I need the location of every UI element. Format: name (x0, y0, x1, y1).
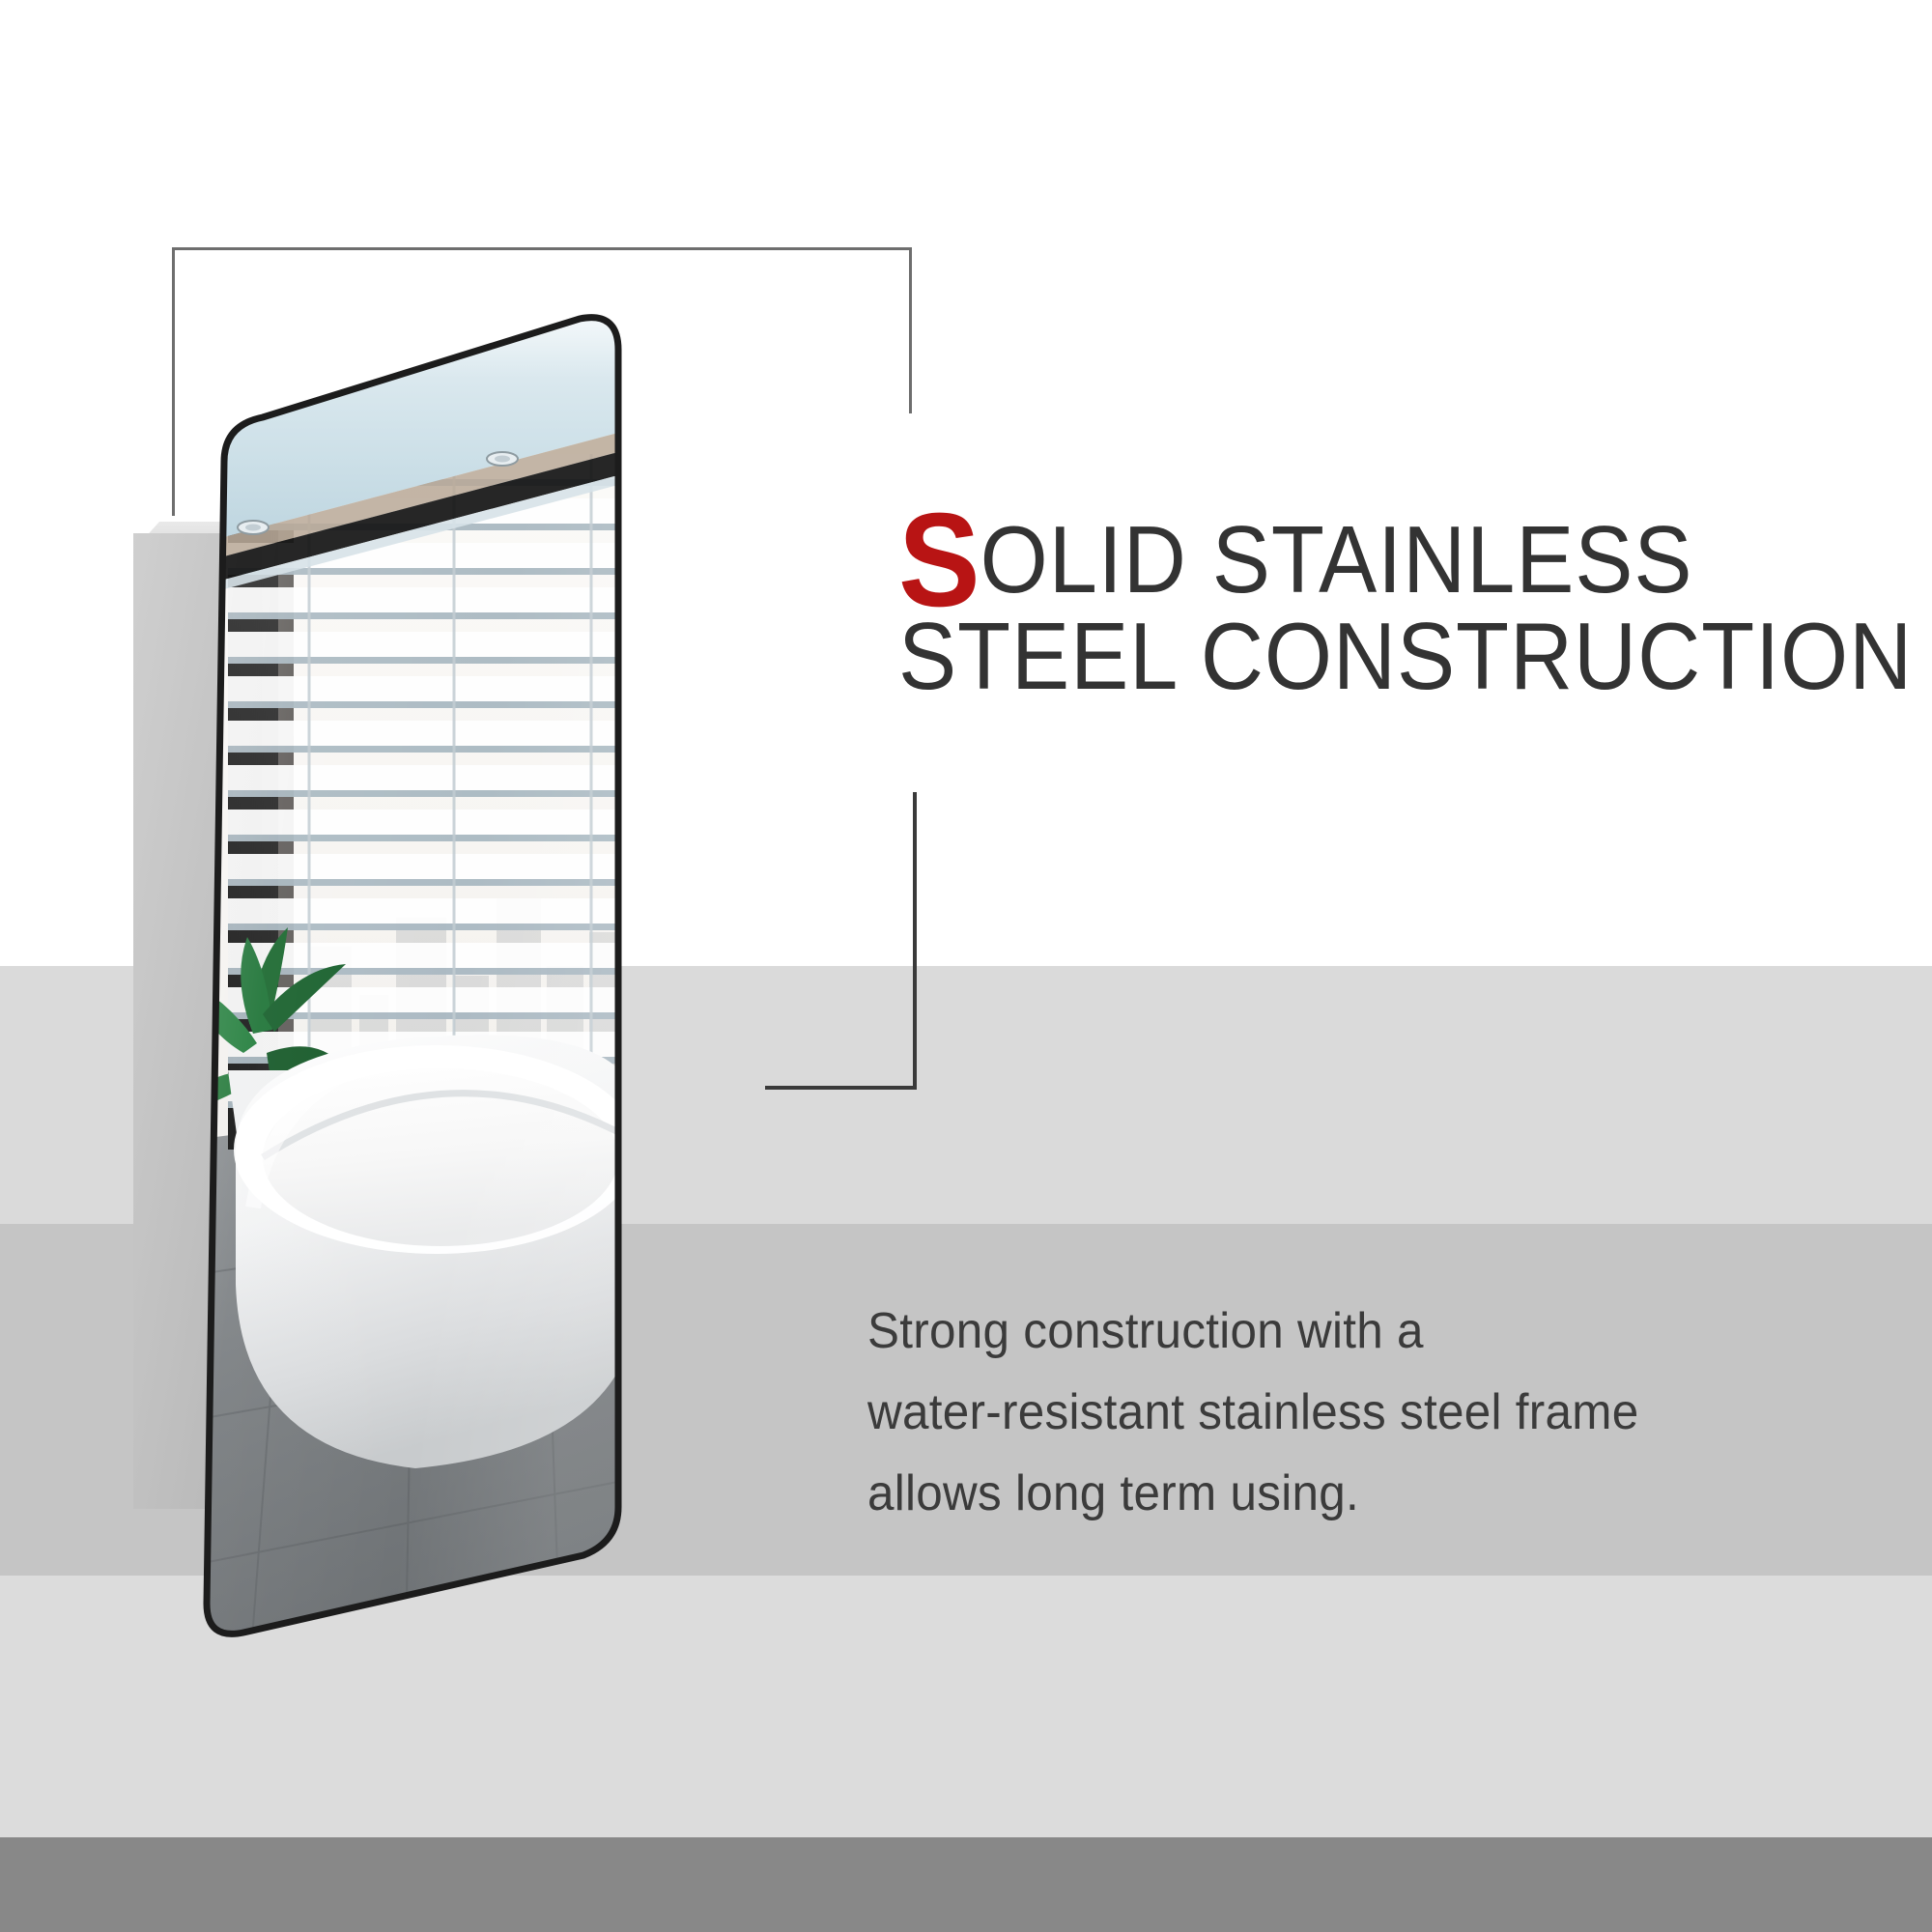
callout-bracket-top-left-vertical (172, 247, 175, 516)
body-paragraph: Strong construction with a water-resista… (867, 1291, 1840, 1535)
mirror-reflection-scene (180, 309, 643, 1652)
headline-line-1: SOLID STAINLESS (898, 512, 1832, 609)
body-line-2: water-resistant stainless steel frame (867, 1372, 1840, 1453)
headline: SOLID STAINLESS STEEL CONSTRUCTION (898, 512, 1832, 705)
callout-bracket-top-right-vertical (909, 247, 912, 413)
mirror-door (0, 0, 966, 1932)
body-line-1: Strong construction with a (867, 1291, 1840, 1372)
headline-drop-cap: S (898, 486, 980, 635)
callout-bracket-bottom-vertical (913, 792, 917, 1090)
hinge-dot-right-inner (495, 456, 510, 463)
headline-line-2: STEEL CONSTRUCTION (898, 609, 1832, 705)
headline-line-1-rest: OLID STAINLESS (980, 506, 1693, 612)
callout-bracket-top-horizontal (172, 247, 912, 250)
callout-bracket-bottom-horizontal (765, 1086, 917, 1090)
product-feature-poster: SOLID STAINLESS STEEL CONSTRUCTION Stron… (0, 0, 1932, 1932)
hinge-dot-left-inner (245, 525, 261, 531)
body-line-3: allows long term using. (867, 1453, 1840, 1534)
product-illustration (0, 0, 966, 1932)
